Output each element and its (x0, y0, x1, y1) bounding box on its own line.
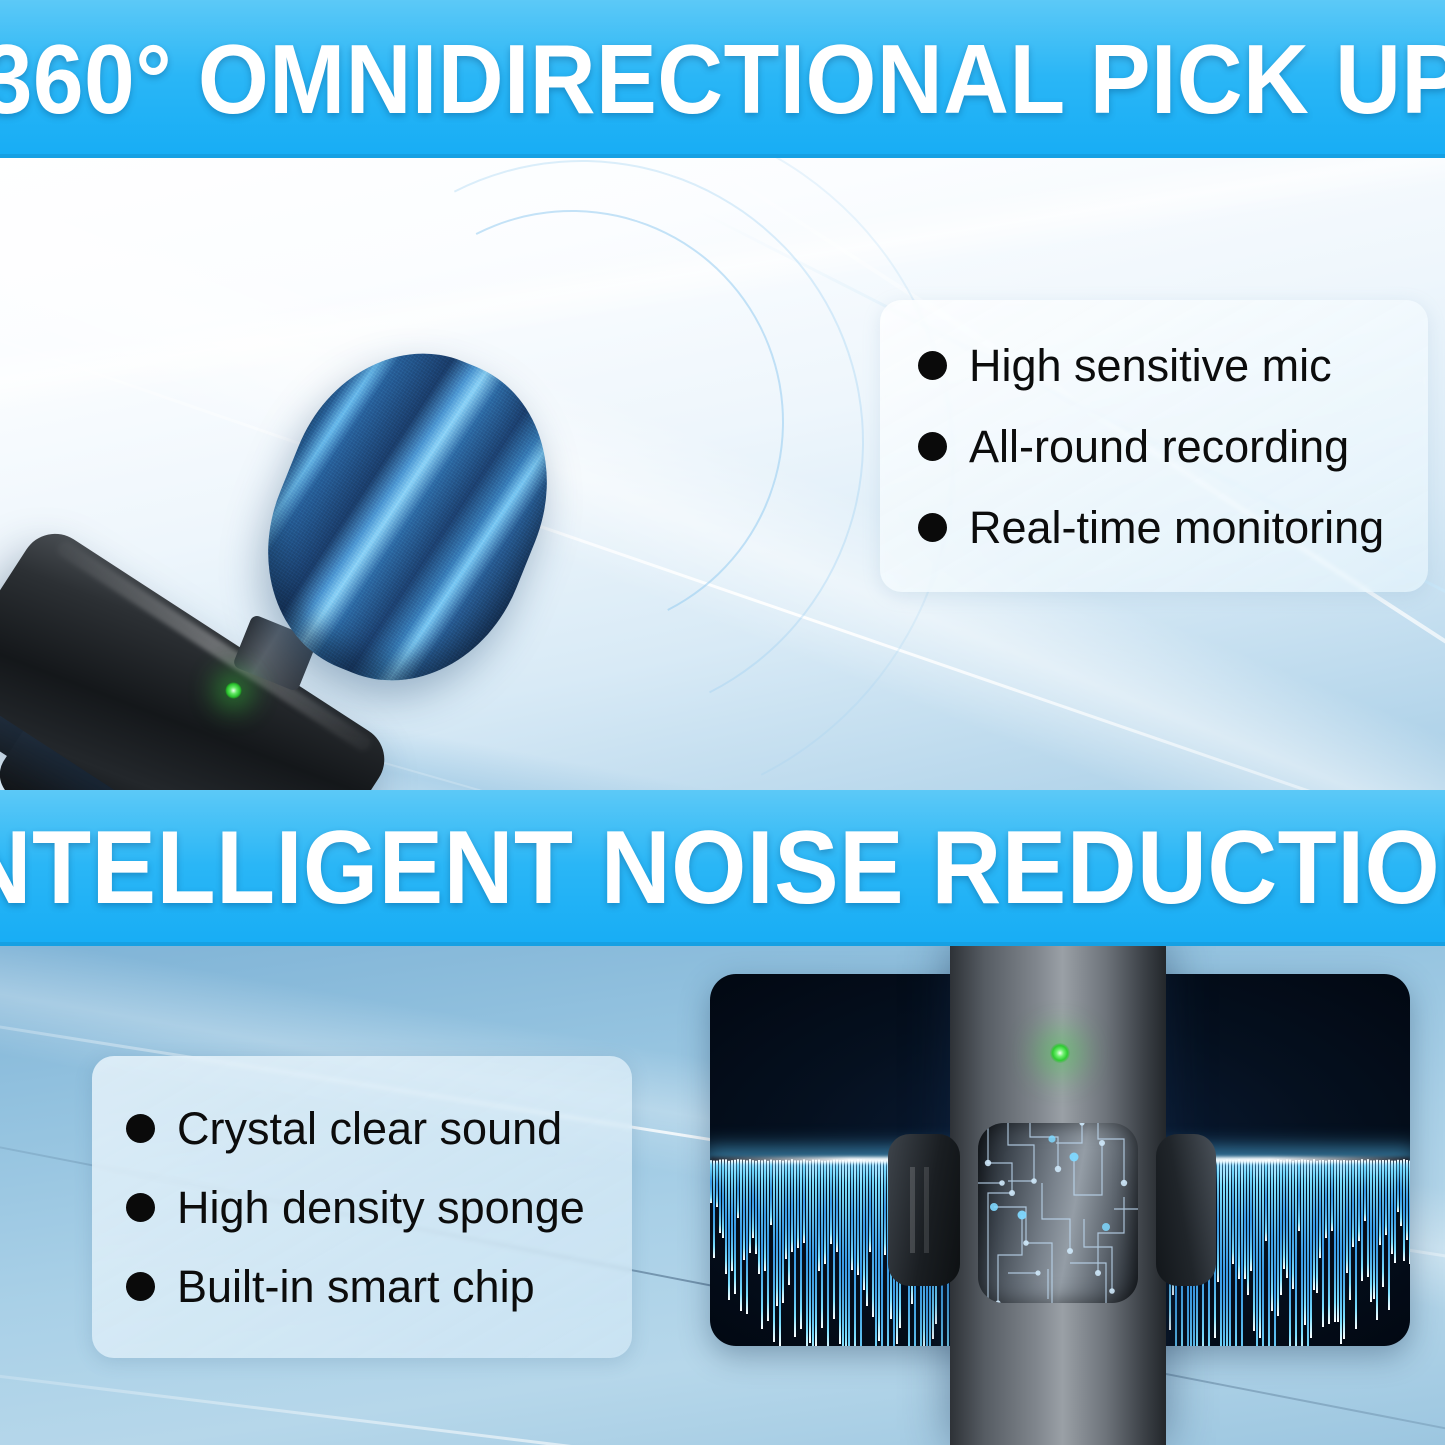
pickup-feature-panel: High sensitive mic All-round recording R… (880, 300, 1428, 592)
banner-omnidirectional: 360° OMNIDIRECTIONAL PICK UP (0, 0, 1445, 158)
lavalier-microphone-tilted (0, 330, 580, 798)
pickup-feature-list: High sensitive mic All-round recording R… (880, 300, 1428, 592)
bullet-dot-icon (918, 513, 947, 542)
bullet-dot-icon (126, 1193, 155, 1222)
list-item: High sensitive mic (880, 325, 1428, 406)
noise-feature-panel: Crystal clear sound High density sponge … (92, 1056, 632, 1358)
feature-label: Real-time monitoring (969, 505, 1384, 550)
feature-label: Built-in smart chip (177, 1264, 535, 1309)
microphone-body-closeup (950, 938, 1166, 1445)
product-feature-graphic: 360° OMNIDIRECTIONAL PICK UP INTELLIGENT… (0, 0, 1445, 1445)
mic-clip-left (888, 1134, 960, 1286)
list-item: All-round recording (880, 406, 1428, 487)
list-item: Built-in smart chip (92, 1247, 632, 1326)
banner-omnidirectional-text: 360° OMNIDIRECTIONAL PICK UP (0, 23, 1445, 136)
banner-noise-reduction-text: INTELLIGENT NOISE REDUCTION (0, 809, 1445, 928)
feature-label: High sensitive mic (969, 343, 1332, 388)
bullet-dot-icon (126, 1114, 155, 1143)
banner-noise-reduction: INTELLIGENT NOISE REDUCTION (0, 790, 1445, 946)
list-item: Real-time monitoring (880, 487, 1428, 568)
feature-label: Crystal clear sound (177, 1106, 562, 1151)
mic-clip-right (1156, 1134, 1216, 1286)
list-item: High density sponge (92, 1168, 632, 1247)
feature-label: All-round recording (969, 424, 1349, 469)
bullet-dot-icon (126, 1272, 155, 1301)
circuit-board-icon (978, 1123, 1138, 1303)
bullet-dot-icon (918, 432, 947, 461)
list-item: Crystal clear sound (92, 1089, 632, 1168)
smart-chip-circuit-overlay (978, 1123, 1138, 1303)
feature-label: High density sponge (177, 1185, 585, 1230)
bullet-dot-icon (918, 351, 947, 380)
led-indicator-icon (1050, 1043, 1070, 1063)
led-indicator-icon (225, 682, 242, 699)
noise-feature-list: Crystal clear sound High density sponge … (92, 1056, 632, 1358)
